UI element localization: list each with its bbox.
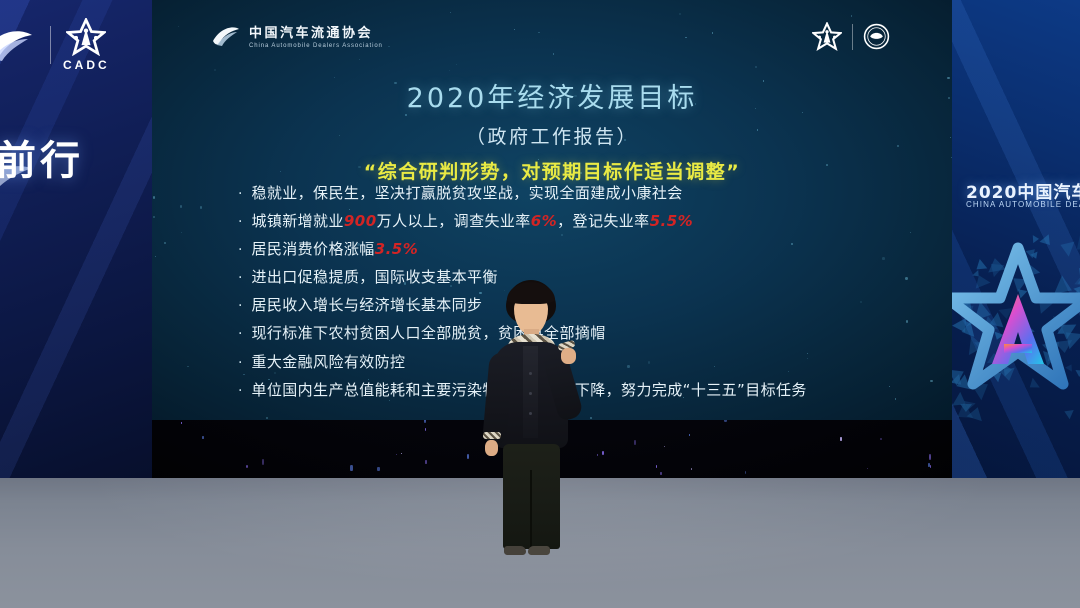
star-speck	[262, 459, 264, 465]
screen-star-speck	[266, 417, 268, 419]
bullet-dot: ·	[238, 326, 242, 342]
star-speck	[377, 467, 379, 471]
side-panel-right: 2020中国汽车经销 CHINA AUTOMOBILE DEALERS CO	[952, 0, 1080, 478]
highlight-value: 3.5%	[375, 240, 419, 258]
right-panel-title-en: CHINA AUTOMOBILE DEALERS CO	[966, 200, 1080, 209]
bullet-text-run: 万人以上，调查失业率	[377, 212, 531, 230]
star-speck	[660, 472, 661, 476]
screen-star-speck	[538, 32, 540, 34]
logo-divider	[852, 24, 853, 50]
highlight-value: 900	[344, 212, 377, 230]
bullet-text: 进出口促稳提质，国际收支基本平衡	[251, 270, 497, 286]
screen-star-speck	[164, 242, 167, 245]
highlight-value: 6%	[531, 212, 557, 230]
presentation-stage: CADC 前行 2020中国汽车经销 CHINA AUTOMOBILE DEAL…	[0, 0, 1080, 608]
star-a-logo-icon	[952, 236, 1080, 411]
star-speck	[691, 468, 692, 470]
screen-logo-en: China Automobile Dealers Association	[249, 43, 383, 49]
bullet-dot: ·	[238, 186, 242, 202]
bullet-item: ·居民消费价格涨幅3.5%	[238, 242, 938, 258]
bullet-text-run: ，登记失业率	[557, 212, 649, 230]
bullet-text-run: 居民收入增长与经济增长基本同步	[251, 296, 482, 314]
bullet-item: ·城镇新增就业900万人以上，调查失业率6%，登记失业率5.5%	[238, 214, 938, 230]
star-speck	[181, 422, 182, 424]
star-speck	[880, 438, 882, 440]
screen-star-speck	[359, 59, 360, 60]
screen-star-speck	[388, 46, 390, 48]
bullet-item: ·稳就业，保民生，坚决打赢脱贫攻坚战，实现全面建成小康社会	[238, 186, 938, 202]
screen-star-speck	[590, 417, 592, 419]
screen-star-speck	[851, 15, 852, 16]
screen-star-speck	[514, 29, 515, 30]
bullet-dot: ·	[238, 298, 242, 314]
star-speck	[467, 454, 469, 459]
bullet-text: 稳就业，保民生，坚决打赢脱贫攻坚战，实现全面建成小康社会	[251, 186, 682, 202]
bullet-dot: ·	[238, 242, 242, 258]
bullet-text-run: 城镇新增就业	[251, 212, 343, 230]
star-speck	[425, 428, 426, 431]
star-speck	[634, 440, 636, 445]
page-subtitle: （政府工作报告）	[152, 122, 952, 149]
star-speck	[745, 471, 746, 474]
star-speck	[602, 451, 604, 456]
side-left-logo-group: CADC	[0, 18, 110, 72]
bullet-text: 重大金融风险有效防控	[251, 355, 405, 371]
cadc-logo-group: CADC	[63, 18, 110, 72]
star-speck	[401, 453, 402, 454]
bullet-text-run: 稳就业，保民生，坚决打赢脱贫攻坚战，实现全面建成小康社会	[251, 184, 682, 202]
screen-star-speck	[214, 69, 216, 71]
screen-star-speck	[187, 366, 188, 367]
swoosh-logo-icon	[210, 23, 240, 49]
side-left-headline: 前行	[0, 128, 84, 186]
screen-star-speck	[553, 53, 554, 54]
screen-star-speck	[456, 64, 457, 65]
screen-star-speck	[178, 26, 179, 27]
circular-emblem-icon	[863, 23, 890, 50]
bullet-dot: ·	[238, 270, 242, 286]
cadc-star-icon	[66, 18, 106, 56]
screen-logo-text: 中国汽车流通协会 China Automobile Dealers Associ…	[249, 22, 383, 49]
star-speck	[867, 468, 868, 469]
screen-star-speck	[200, 206, 202, 208]
screen-logos-right	[812, 22, 890, 51]
swoosh-logo-icon	[0, 23, 38, 67]
speaker-figure	[470, 280, 590, 565]
star-speck	[246, 465, 248, 469]
page-quote: “综合研判形势，对预期目标作适当调整”	[152, 157, 952, 184]
bullet-dot: ·	[238, 214, 242, 230]
star-speck	[597, 454, 598, 456]
slide-title-block: 2020年经济发展目标 （政府工作报告） “综合研判形势，对预期目标作适当调整”	[152, 76, 952, 184]
bullet-text: 居民消费价格涨幅3.5%	[251, 242, 418, 258]
star-speck	[840, 437, 841, 441]
screen-star-speck	[450, 12, 451, 13]
side-panel-left: CADC 前行	[0, 0, 152, 478]
bullet-dot: ·	[238, 383, 242, 399]
star-speck	[350, 465, 352, 471]
star-speck	[425, 460, 426, 464]
star-speck	[656, 465, 657, 468]
bullet-text-run: 重大金融风险有效防控	[251, 353, 405, 371]
bullet-dot: ·	[238, 355, 242, 371]
bullet-text-run: 进出口促稳提质，国际收支基本平衡	[251, 268, 497, 286]
logo-divider	[50, 26, 51, 64]
star-speck	[689, 434, 690, 436]
screen-star-speck	[755, 66, 757, 68]
bullet-text-run: 居民消费价格涨幅	[251, 240, 374, 258]
star-speck	[929, 454, 931, 460]
star-speck	[664, 446, 665, 447]
screen-star-speck	[685, 37, 687, 39]
star-speck	[930, 465, 931, 468]
bullet-text: 城镇新增就业900万人以上，调查失业率6%，登记失业率5.5%	[251, 214, 693, 230]
screen-star-speck	[155, 256, 156, 257]
screen-star-speck	[679, 13, 681, 15]
cadc-label: CADC	[63, 58, 110, 72]
page-title: 2020年经济发展目标	[152, 76, 952, 115]
screen-star-speck	[153, 216, 155, 218]
screen-star-speck	[181, 232, 182, 233]
bullet-text: 居民收入增长与经济增长基本同步	[251, 298, 482, 314]
screen-star-speck	[712, 32, 713, 33]
highlight-value: 5.5%	[650, 212, 694, 230]
cadc-star-icon	[812, 22, 842, 51]
screen-star-speck	[449, 70, 450, 71]
screen-star-speck	[180, 205, 183, 208]
screen-logo-group: 中国汽车流通协会 China Automobile Dealers Associ…	[210, 22, 383, 49]
screen-logo-cn: 中国汽车流通协会	[249, 22, 383, 41]
star-speck	[202, 436, 203, 438]
star-speck	[396, 454, 397, 455]
screen-star-speck	[153, 196, 155, 198]
